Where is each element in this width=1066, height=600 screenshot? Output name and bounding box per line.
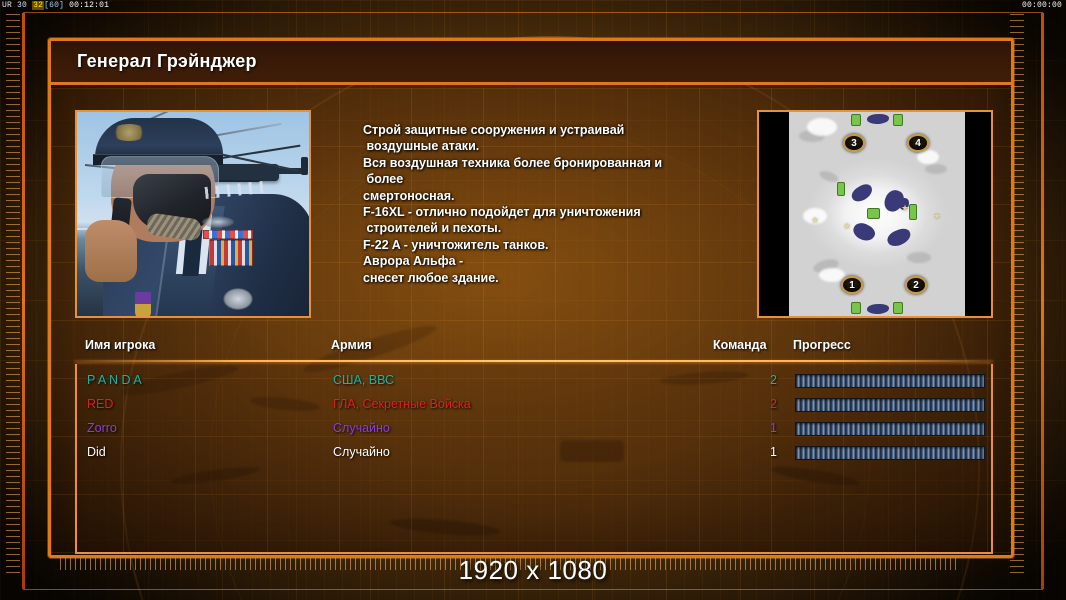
ruler-left [6, 14, 20, 574]
map-start-position: 2 [905, 276, 927, 294]
unit-badge-icon [223, 288, 253, 310]
start-position-label: 3 [851, 138, 857, 149]
map-star-icon: ★ [901, 204, 909, 213]
cap-insignia-icon [111, 124, 147, 141]
table-row[interactable]: RED ГЛА, Секретные Войска 2 [77, 394, 991, 418]
service-ribbons [203, 230, 253, 239]
map-resource [893, 114, 903, 126]
hud-value-3: [60] [44, 1, 64, 10]
description-line: F-22 A - уничтожитель танков. [363, 237, 733, 253]
main-panel: Генерал Грэйнджер [48, 38, 1014, 558]
start-position-label: 1 [849, 280, 855, 291]
purple-heart-medal-icon [135, 292, 151, 318]
player-team: 2 [737, 397, 777, 411]
player-progress-bar [795, 398, 985, 412]
service-ribbons [209, 240, 253, 266]
map-resource [909, 204, 917, 220]
map-image: ★ ★ ★ ★ 3 4 1 2 [789, 112, 965, 316]
map-snow [819, 268, 845, 282]
start-position-label: 2 [913, 280, 919, 291]
map-resource [851, 114, 861, 126]
upper-row: Строй защитные сооружения и устраивай во… [75, 110, 993, 322]
player-name: Zorro [87, 421, 117, 435]
game-lobby-screen: UR 30 32[60] 00:12:01 00:00:00 Генерал Г… [0, 0, 1066, 600]
player-team: 1 [737, 445, 777, 459]
column-header-team: Команда [713, 338, 767, 352]
hud-clock: 00:00:00 [1022, 0, 1062, 11]
player-name: Did [87, 445, 106, 459]
map-start-position: 3 [843, 134, 865, 152]
player-progress-bar [795, 446, 985, 460]
map-resource [893, 302, 903, 314]
hud-top-bar: UR 30 32[60] 00:12:01 00:00:00 [0, 0, 1066, 11]
description-line: Аврора Альфа - [363, 253, 733, 269]
description-line: строителей и пехоты. [363, 220, 733, 236]
description-line: более [363, 171, 733, 187]
pilot-wings-icon [201, 216, 235, 228]
title-bar: Генерал Грэйнджер [51, 41, 1011, 85]
player-progress-bar [795, 374, 985, 388]
table-row[interactable]: P A N D A США, ВВС 2 [77, 370, 991, 394]
officer-hand [85, 220, 137, 282]
map-terrain [925, 164, 947, 174]
frame-edge-left [22, 13, 25, 589]
table-row[interactable]: Zorro Случайно 1 [77, 418, 991, 442]
description-line: воздушные атаки. [363, 138, 733, 154]
column-header-army: Армия [331, 338, 372, 352]
hud-value-1: 30 [17, 1, 27, 10]
hud-value-2: 32 [32, 1, 44, 10]
map-feature [885, 226, 913, 248]
general-description: Строй защитные сооружения и устраивай во… [363, 122, 733, 286]
page-title: Генерал Грэйнджер [77, 51, 257, 72]
player-army: ГЛА, Секретные Войска [333, 397, 471, 411]
general-portrait [75, 110, 311, 318]
map-start-position: 4 [907, 134, 929, 152]
map-feature [850, 220, 877, 245]
start-position-label: 4 [915, 138, 921, 149]
map-start-position: 1 [841, 276, 863, 294]
column-header-progress: Прогресс [793, 338, 851, 352]
map-feature [867, 114, 889, 124]
resolution-label: 1920 x 1080 [0, 555, 1066, 586]
player-army: Случайно [333, 445, 390, 459]
header-divider [75, 360, 993, 362]
map-star-icon: ★ [811, 216, 819, 225]
map-resource [867, 208, 880, 219]
player-army: США, ВВС [333, 373, 394, 387]
map-snow [807, 118, 837, 136]
player-name: P A N D A [87, 373, 142, 387]
hud-elapsed-time: 00:12:01 [69, 1, 109, 10]
panel-content: Строй защитные сооружения и устраивай во… [51, 88, 1011, 555]
frame-edge-right [1041, 13, 1044, 589]
player-team: 1 [737, 421, 777, 435]
hud-stats: UR 30 32[60] 00:12:01 [2, 0, 109, 11]
player-list: P A N D A США, ВВС 2 RED ГЛА, Секретные … [75, 364, 993, 554]
table-row[interactable]: Did Случайно 1 [77, 442, 991, 466]
description-line: Строй защитные сооружения и устраивай [363, 122, 733, 138]
map-terrain [907, 252, 931, 263]
map-star-icon: ★ [843, 222, 851, 231]
map-star-icon: ★ [933, 212, 941, 221]
player-army: Случайно [333, 421, 390, 435]
player-progress-bar [795, 422, 985, 436]
map-resource [851, 302, 861, 314]
map-feature [849, 182, 875, 205]
map-preview[interactable]: ★ ★ ★ ★ 3 4 1 2 [757, 110, 993, 318]
description-line: F-16XL - отлично подойдет для уничтожени… [363, 204, 733, 220]
map-feature [867, 304, 889, 314]
hud-label: UR [2, 1, 12, 10]
map-resource [837, 182, 845, 196]
column-header-name: Имя игрока [85, 338, 155, 352]
map-snow [917, 150, 939, 164]
description-line: снесет любое здание. [363, 270, 733, 286]
player-list-header: Имя игрока Армия Команда Прогресс [75, 338, 993, 360]
player-name: RED [87, 397, 113, 411]
description-line: Вся воздушная техника более бронированна… [363, 155, 733, 171]
description-line: смертоносная. [363, 188, 733, 204]
player-team: 2 [737, 373, 777, 387]
